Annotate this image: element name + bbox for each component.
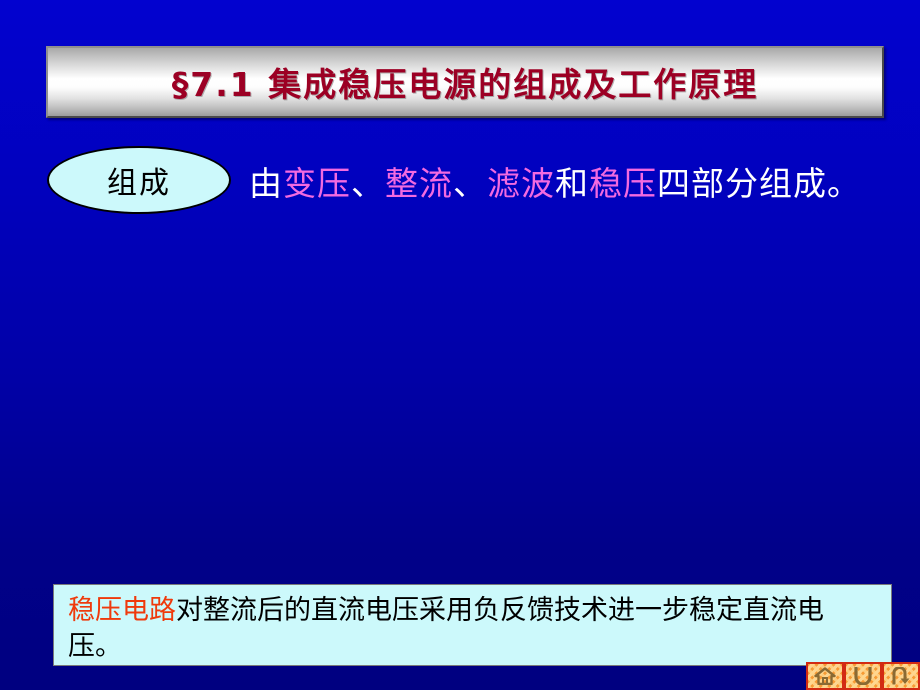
next-button[interactable] [882, 662, 920, 690]
page-title: §7.1 集成稳压电源的组成及工作原理 [172, 58, 758, 106]
note-seg-0: 稳压电路 [68, 595, 176, 626]
callout-ellipse-composition: 组成 [47, 146, 231, 214]
slide-canvas: §7.1 集成稳压电源的组成及工作原理 组成 由变压、整流、滤波和稳压四部分组成… [0, 0, 920, 690]
composition-seg-3: 整流 [385, 164, 453, 203]
composition-seg-6: 和 [555, 164, 589, 203]
composition-seg-7: 稳压 [589, 164, 657, 203]
composition-seg-5: 滤波 [487, 164, 555, 203]
composition-seg-0: 由 [249, 164, 283, 203]
note-box: 稳压电路对整流后的直流电压采用负反馈技术进一步稳定直流电压。 [53, 584, 892, 666]
callout-label: 组成 [107, 158, 171, 202]
return-icon [852, 667, 874, 685]
composition-seg-4: 、 [453, 164, 487, 203]
navigation-buttons [806, 662, 920, 690]
return-button[interactable] [844, 662, 882, 690]
note-seg-1: 对整流后的直流电压采用负反馈技术进一步稳定直流电压。 [68, 595, 824, 662]
composition-seg-2: 、 [351, 164, 385, 203]
next-icon [890, 667, 912, 685]
note-text: 稳压电路对整流后的直流电压采用负反馈技术进一步稳定直流电压。 [68, 593, 877, 665]
slide-title-banner: §7.1 集成稳压电源的组成及工作原理 [46, 46, 884, 118]
composition-sentence: 由变压、整流、滤波和稳压四部分组成。 [249, 157, 861, 205]
home-icon [814, 667, 836, 685]
composition-seg-1: 变压 [283, 164, 351, 203]
home-button[interactable] [806, 662, 844, 690]
composition-seg-8: 四部分组成。 [657, 164, 861, 203]
